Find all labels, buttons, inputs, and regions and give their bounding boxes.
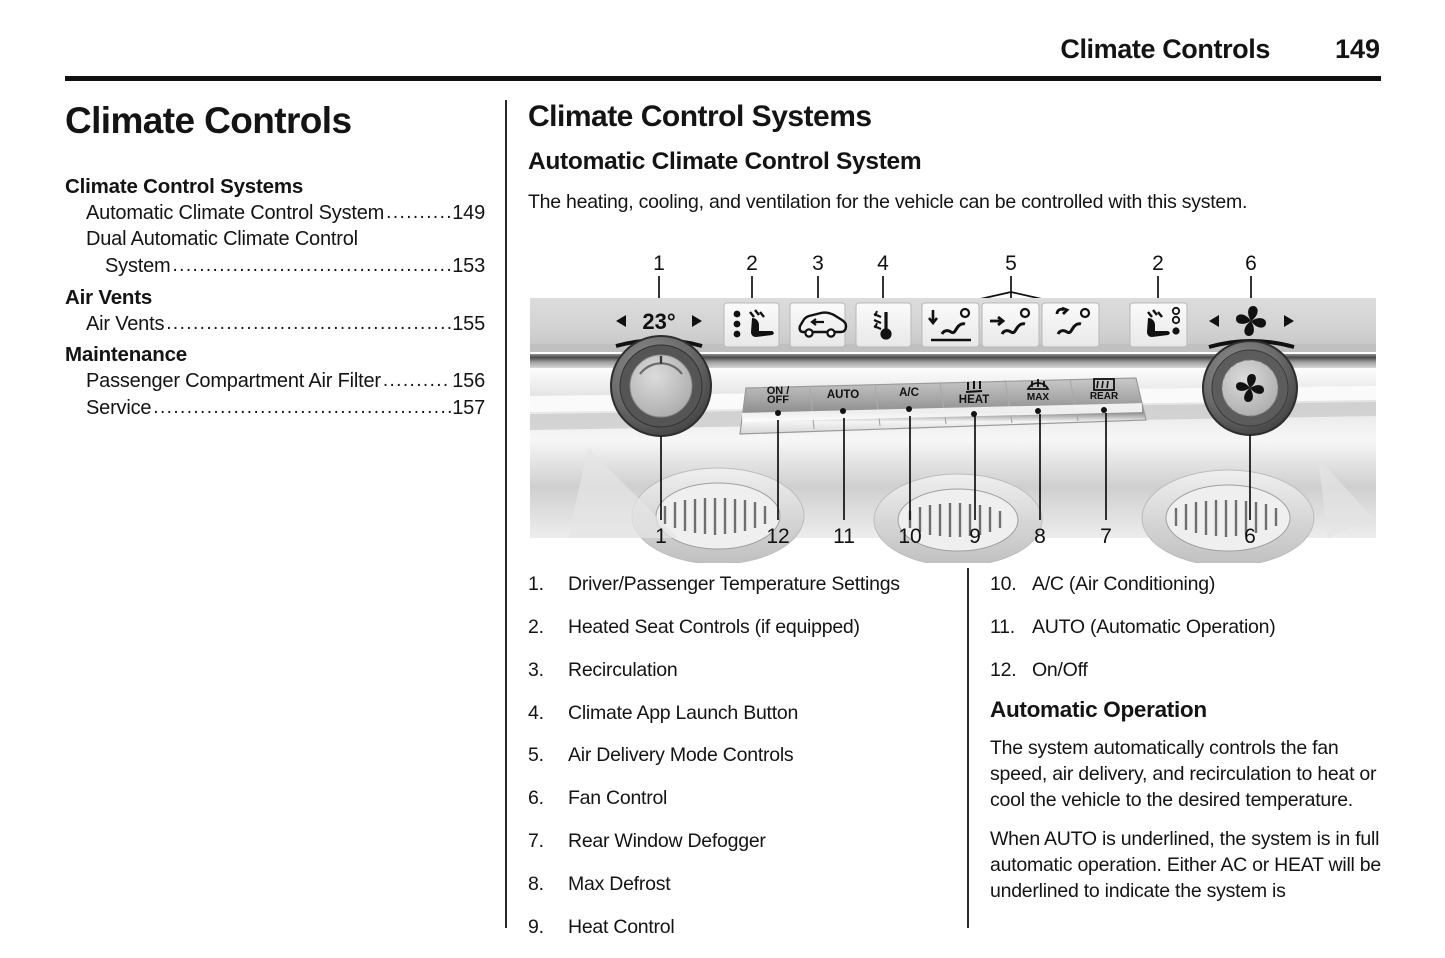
column-divider-list [967, 568, 969, 928]
list-item: 6.Fan Control [528, 786, 948, 811]
chapter-title: Climate Controls [65, 102, 485, 141]
list-item: 7.Rear Window Defogger [528, 829, 948, 854]
automatic-operation-heading: Automatic Operation [990, 697, 1400, 723]
toc-entry-label: Automatic Climate Control System [86, 200, 384, 227]
toc-leader-dots: ........................................… [386, 200, 451, 225]
list-item-number: 5. [528, 743, 568, 768]
recirculation-button[interactable] [790, 303, 846, 347]
svg-text:5: 5 [1005, 252, 1017, 275]
svg-text:12: 12 [766, 525, 789, 548]
page-header: Climate Controls 149 [0, 34, 1445, 74]
list-item-number: 8. [528, 872, 568, 897]
list-item-number: 12. [990, 658, 1032, 683]
toc-entry-page: 157 [452, 395, 485, 422]
svg-text:1: 1 [655, 525, 667, 548]
list-item-text: Recirculation [568, 658, 948, 683]
list-item-text: Heat Control [568, 915, 948, 940]
table-of-contents: Climate Control SystemsAutomatic Climate… [65, 175, 485, 422]
list-item: 4.Climate App Launch Button [528, 701, 948, 726]
list-item: 8.Max Defrost [528, 872, 948, 897]
driver-temperature-knob[interactable] [611, 336, 711, 436]
subsection-title: Automatic Climate Control System [528, 148, 1408, 176]
toc-entry[interactable]: System..................................… [65, 253, 485, 280]
toc-entry[interactable]: Automatic Climate Control System........… [65, 200, 485, 227]
list-item-number: 3. [528, 658, 568, 683]
heated-seat-button-right[interactable] [1130, 303, 1187, 347]
list-item-number: 6. [528, 786, 568, 811]
automatic-operation-paragraph-2: When AUTO is underlined, the system is i… [990, 827, 1400, 905]
svg-text:7: 7 [1100, 525, 1112, 548]
on-off-label-line2: OFF [767, 394, 789, 406]
list-item-number: 10. [990, 572, 1032, 597]
header-rule [65, 76, 1381, 81]
climate-panel-illustration: 1 2 3 4 5 2 6 23° [528, 248, 1408, 563]
ac-indicator [906, 406, 912, 412]
list-item: 12.On/Off [990, 658, 1400, 683]
toc-entry-label: Passenger Compartment Air Filter [86, 368, 381, 395]
header-title: Climate Controls [1060, 34, 1270, 65]
auto-indicator [840, 408, 846, 414]
list-item: 5.Air Delivery Mode Controls [528, 743, 948, 768]
svg-text:2: 2 [746, 252, 758, 275]
list-item-text: Max Defrost [568, 872, 948, 897]
list-item-number: 11. [990, 615, 1032, 640]
callout-list-right: 10.A/C (Air Conditioning)11.AUTO (Automa… [990, 572, 1400, 701]
svg-text:4: 4 [877, 252, 889, 275]
callout-list-left: 1.Driver/Passenger Temperature Settings2… [528, 572, 948, 958]
svg-text:6: 6 [1245, 252, 1257, 275]
toc-leader-dots: ........................................… [383, 368, 451, 393]
toc-entry[interactable]: Passenger Compartment Air Filter........… [65, 368, 485, 395]
list-item-number: 9. [528, 915, 568, 940]
list-item-number: 1. [528, 572, 568, 597]
air-delivery-face-button[interactable] [982, 303, 1039, 347]
intro-paragraph: The heating, cooling, and ventilation fo… [528, 190, 1408, 215]
list-item-number: 7. [528, 829, 568, 854]
automatic-operation-paragraph-1: The system automatically controls the fa… [990, 736, 1400, 814]
list-item-text: Driver/Passenger Temperature Settings [568, 572, 948, 597]
toc-group: Climate Control SystemsAutomatic Climate… [65, 175, 485, 280]
toc-leader-dots: ........................................… [153, 395, 451, 420]
list-item-text: Fan Control [568, 786, 948, 811]
toc-group-title: Climate Control Systems [65, 175, 485, 199]
temperature-value: 23° [642, 309, 675, 334]
section-title: Climate Control Systems [528, 100, 1408, 134]
toc-entry-page: 155 [452, 311, 485, 338]
list-item: 9.Heat Control [528, 915, 948, 940]
air-delivery-floor-button[interactable] [922, 303, 979, 347]
ac-label: A/C [899, 387, 919, 399]
on-off-indicator [775, 410, 781, 416]
climate-control-panel-figure: 1 2 3 4 5 2 6 23° [528, 248, 1408, 563]
list-item-number: 2. [528, 615, 568, 640]
svg-text:8: 8 [1034, 525, 1046, 548]
automatic-operation-section: Automatic Operation The system automatic… [990, 697, 1400, 918]
list-item-text: Rear Window Defogger [568, 829, 948, 854]
toc-group-title: Air Vents [65, 286, 485, 310]
list-item: 1.Driver/Passenger Temperature Settings [528, 572, 948, 597]
toc-entry-page: 149 [452, 200, 485, 227]
toc-entry-page: 156 [452, 368, 485, 395]
svg-text:11: 11 [833, 525, 855, 548]
top-callout-labels: 1 2 3 4 5 2 6 [653, 252, 1257, 275]
fan-control-knob[interactable] [1203, 341, 1297, 435]
air-delivery-face-defrost-button[interactable] [1042, 303, 1099, 347]
svg-text:2: 2 [1152, 252, 1164, 275]
climate-app-launch-button[interactable] [856, 303, 911, 347]
left-column: Climate Controls Climate Control Systems… [65, 102, 485, 427]
toc-entry-label: Service [86, 395, 151, 422]
toc-group: Air VentsAir Vents......................… [65, 286, 485, 338]
svg-text:10: 10 [898, 525, 921, 548]
toc-entry-label: Air Vents [86, 311, 164, 338]
svg-text:1: 1 [653, 252, 665, 275]
column-divider-main [505, 100, 507, 928]
list-item-number: 4. [528, 701, 568, 726]
toc-leader-dots: ........................................… [172, 253, 451, 278]
heat-label: HEAT [959, 394, 989, 406]
toc-entry-page: 153 [452, 253, 485, 280]
toc-entry[interactable]: Service.................................… [65, 395, 485, 422]
list-item: 10.A/C (Air Conditioning) [990, 572, 1400, 597]
list-item: 2.Heated Seat Controls (if equipped) [528, 615, 948, 640]
toc-leader-dots: ........................................… [166, 311, 451, 336]
rear-indicator [1101, 407, 1107, 413]
list-item-text: Climate App Launch Button [568, 701, 948, 726]
toc-entry[interactable]: Air Vents...............................… [65, 311, 485, 338]
svg-text:6: 6 [1244, 525, 1256, 548]
toc-entry-label: System [105, 253, 170, 280]
toc-group: MaintenancePassenger Compartment Air Fil… [65, 343, 485, 421]
toc-group-title: Maintenance [65, 343, 485, 367]
toc-entry[interactable]: Dual Automatic Climate Control [65, 226, 485, 253]
list-item: 3.Recirculation [528, 658, 948, 683]
svg-text:3: 3 [812, 252, 824, 275]
list-item-text: On/Off [1032, 658, 1400, 683]
toc-entry-label: Dual Automatic Climate Control [86, 226, 358, 253]
rear-label: REAR [1090, 391, 1119, 402]
list-item-text: Heated Seat Controls (if equipped) [568, 615, 948, 640]
list-item-text: Air Delivery Mode Controls [568, 743, 948, 768]
auto-label: AUTO [827, 389, 859, 401]
svg-text:9: 9 [969, 525, 981, 548]
list-item-text: AUTO (Automatic Operation) [1032, 615, 1400, 640]
list-item-text: A/C (Air Conditioning) [1032, 572, 1400, 597]
max-label: MAX [1027, 392, 1050, 403]
page-number: 149 [1335, 34, 1380, 65]
heated-seat-button-left[interactable] [724, 303, 779, 347]
max-indicator [1035, 408, 1041, 414]
list-item: 11.AUTO (Automatic Operation) [990, 615, 1400, 640]
heat-indicator [971, 411, 977, 417]
right-column: Climate Control Systems Automatic Climat… [528, 100, 1408, 215]
